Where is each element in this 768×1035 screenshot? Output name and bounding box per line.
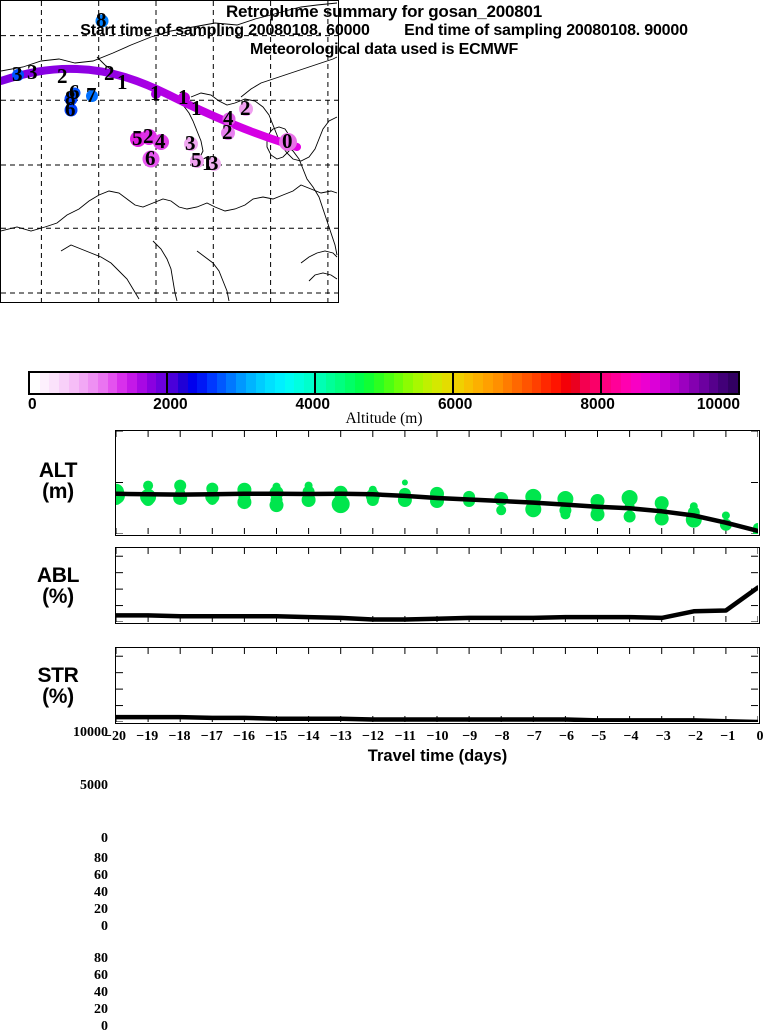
colorbar-segment bbox=[108, 373, 118, 393]
colorbar-segment bbox=[88, 373, 98, 393]
colorbar-segment bbox=[217, 373, 227, 393]
end-time-label: End time of sampling 20080108. 90000 bbox=[404, 22, 688, 39]
colorbar-segment bbox=[571, 373, 581, 393]
colorbar-segment bbox=[522, 373, 532, 393]
map-marker-label: 2 bbox=[240, 98, 251, 119]
colorbar-segment bbox=[670, 373, 680, 393]
y-tick-label: 80 bbox=[48, 851, 108, 867]
colorbar-segment bbox=[454, 373, 464, 393]
colorbar-segment bbox=[718, 373, 728, 393]
colorbar-segment bbox=[275, 373, 285, 393]
colorbar-title: Altitude (m) bbox=[0, 410, 768, 428]
colorbar-segment bbox=[728, 373, 738, 393]
colorbar-segment bbox=[611, 373, 621, 393]
y-tick-label: 40 bbox=[48, 885, 108, 901]
map-marker-label: 1 bbox=[191, 98, 202, 119]
colorbar-segment bbox=[384, 373, 394, 393]
map-marker-label: 1 bbox=[178, 87, 189, 108]
x-tick-label: −19 bbox=[130, 729, 164, 745]
colorbar-segment bbox=[335, 373, 345, 393]
colorbar-segment bbox=[561, 373, 571, 393]
colorbar-segment bbox=[394, 373, 404, 393]
colorbar-segment bbox=[473, 373, 483, 393]
x-tick-label: −5 bbox=[582, 729, 616, 745]
y-tick-label: 40 bbox=[48, 985, 108, 1001]
str-plot[interactable] bbox=[115, 647, 760, 724]
colorbar-segment bbox=[188, 373, 198, 393]
x-tick-label: −8 bbox=[485, 729, 519, 745]
start-time-label: Start time of sampling 20080108. 60000 bbox=[80, 22, 369, 39]
colorbar-segment bbox=[326, 373, 336, 393]
colorbar-segment bbox=[246, 373, 256, 393]
x-tick-label: −1 bbox=[711, 729, 745, 745]
map-marker-label: 6 bbox=[65, 99, 76, 120]
colorbar-segment bbox=[709, 373, 719, 393]
colorbar-segment bbox=[304, 373, 314, 393]
map-marker-label: 1 bbox=[150, 83, 161, 104]
x-tick-label: −11 bbox=[388, 729, 422, 745]
y-tick-label: 0 bbox=[48, 919, 108, 935]
alt-label-line2: (m) bbox=[8, 481, 108, 502]
abl-label-line2: (%) bbox=[8, 586, 108, 607]
x-tick-label: 0 bbox=[743, 729, 768, 745]
map-marker-label: 7 bbox=[86, 85, 97, 106]
alt-plot[interactable] bbox=[115, 430, 760, 536]
map-marker-label: 3 bbox=[208, 153, 219, 174]
colorbar-segment bbox=[236, 373, 246, 393]
colorbar-segment bbox=[178, 373, 188, 393]
colorbar-segment bbox=[265, 373, 275, 393]
colorbar-segment bbox=[345, 373, 355, 393]
colorbar-segment bbox=[403, 373, 413, 393]
x-tick-label: −15 bbox=[259, 729, 293, 745]
x-tick-label: −6 bbox=[550, 729, 584, 745]
colorbar-segment bbox=[483, 373, 493, 393]
colorbar-segment bbox=[503, 373, 513, 393]
x-axis-title: Travel time (days) bbox=[115, 747, 760, 766]
colorbar-segment bbox=[660, 373, 670, 393]
colorbar-segment bbox=[464, 373, 474, 393]
colorbar-segment bbox=[423, 373, 433, 393]
colorbar-segment bbox=[168, 373, 178, 393]
map-marker-label: 2 bbox=[222, 122, 233, 143]
map-marker-label: 2 bbox=[104, 63, 115, 84]
map-marker-label: 2 bbox=[143, 126, 154, 147]
colorbar-segment bbox=[699, 373, 709, 393]
map-marker-label: 1 bbox=[117, 72, 128, 93]
alt-label-line1: ALT bbox=[8, 460, 108, 481]
str-plot-svg bbox=[116, 648, 758, 722]
x-tick-label: −14 bbox=[292, 729, 326, 745]
colorbar-segment bbox=[442, 373, 452, 393]
colorbar-segment bbox=[541, 373, 551, 393]
colorbar-segment bbox=[621, 373, 631, 393]
str-label-line2: (%) bbox=[8, 686, 108, 707]
title-block: Retroplume summary for gosan_200801 Star… bbox=[0, 2, 768, 59]
abl-plot[interactable] bbox=[115, 547, 760, 624]
x-tick-label: −2 bbox=[679, 729, 713, 745]
x-tick-label: −12 bbox=[356, 729, 390, 745]
y-tick-label: 20 bbox=[48, 902, 108, 918]
alt-axis-label: ALT (m) bbox=[8, 460, 108, 502]
y-tick-label: 0 bbox=[48, 1019, 108, 1035]
x-tick-label: −3 bbox=[646, 729, 680, 745]
x-tick-label: −9 bbox=[453, 729, 487, 745]
y-tick-label: 20 bbox=[48, 1002, 108, 1018]
x-tick-label: −20 bbox=[98, 729, 132, 745]
met-data-label: Meteorological data used is ECMWF bbox=[0, 40, 768, 59]
colorbar-segment bbox=[197, 373, 207, 393]
x-tick-label: −7 bbox=[517, 729, 551, 745]
colorbar-segment bbox=[256, 373, 266, 393]
map-marker-label: 4 bbox=[155, 131, 166, 152]
x-tick-label: −4 bbox=[614, 729, 648, 745]
colorbar-segment bbox=[602, 373, 612, 393]
colorbar-segment bbox=[98, 373, 108, 393]
colorbar-segment bbox=[590, 373, 600, 393]
map-marker-label: 2 bbox=[57, 66, 68, 87]
colorbar-segment bbox=[551, 373, 561, 393]
str-axis-label: STR (%) bbox=[8, 665, 108, 707]
colorbar-segment bbox=[69, 373, 79, 393]
page-title: Retroplume summary for gosan_200801 bbox=[0, 2, 768, 21]
abl-axis-label: ABL (%) bbox=[8, 565, 108, 607]
colorbar-segment bbox=[580, 373, 590, 393]
colorbar-segment bbox=[117, 373, 127, 393]
map-marker-label: 5 bbox=[191, 150, 202, 171]
str-label-line1: STR bbox=[8, 665, 108, 686]
x-tick-label: −13 bbox=[324, 729, 358, 745]
colorbar-segment bbox=[364, 373, 374, 393]
colorbar-segment bbox=[40, 373, 50, 393]
colorbar-segment bbox=[413, 373, 423, 393]
colorbar-segment bbox=[374, 373, 384, 393]
map-marker-label: 3 bbox=[12, 64, 23, 85]
colorbar-segment bbox=[147, 373, 157, 393]
map-marker-label: 0 bbox=[282, 131, 293, 152]
map-marker-label: 8 bbox=[96, 10, 107, 31]
colorbar-segment bbox=[432, 373, 442, 393]
y-tick-label: 80 bbox=[48, 951, 108, 967]
colorbar-segment bbox=[493, 373, 503, 393]
map-marker-label: 3 bbox=[27, 62, 38, 83]
colorbar-segment bbox=[679, 373, 689, 393]
colorbar-segment bbox=[79, 373, 89, 393]
y-tick-label: 0 bbox=[48, 831, 108, 847]
colorbar-segment bbox=[285, 373, 295, 393]
sampling-time-line: Start time of sampling 20080108. 60000 E… bbox=[0, 21, 768, 40]
colorbar-segment bbox=[137, 373, 147, 393]
colorbar-segment bbox=[512, 373, 522, 393]
y-tick-label: 60 bbox=[48, 868, 108, 884]
colorbar-segment bbox=[355, 373, 365, 393]
x-tick-label: −17 bbox=[195, 729, 229, 745]
colorbar-segment bbox=[532, 373, 542, 393]
abl-label-line1: ABL bbox=[8, 565, 108, 586]
colorbar-segment bbox=[59, 373, 69, 393]
colorbar-segment bbox=[316, 373, 326, 393]
colorbar-segment bbox=[30, 373, 40, 393]
abl-plot-svg bbox=[116, 548, 758, 622]
y-tick-label: 60 bbox=[48, 968, 108, 984]
colorbar-segment bbox=[641, 373, 651, 393]
altitude-colorbar[interactable] bbox=[28, 371, 740, 395]
colorbar-segment bbox=[207, 373, 217, 393]
x-tick-label: −16 bbox=[227, 729, 261, 745]
x-tick-label: −18 bbox=[163, 729, 197, 745]
colorbar-segment bbox=[49, 373, 59, 393]
colorbar-segment bbox=[689, 373, 699, 393]
colorbar-segment bbox=[127, 373, 137, 393]
colorbar-segment bbox=[294, 373, 304, 393]
map-marker-label: 5 bbox=[132, 128, 143, 149]
colorbar-segment bbox=[631, 373, 641, 393]
colorbar-segment bbox=[156, 373, 166, 393]
colorbar-segment bbox=[650, 373, 660, 393]
x-tick-label-layer: −20−19−18−17−16−15−14−13−12−11−10−9−8−7−… bbox=[0, 729, 768, 747]
map-marker-label: 6 bbox=[145, 148, 156, 169]
alt-plot-svg bbox=[116, 431, 758, 534]
y-tick-label: 5000 bbox=[48, 778, 108, 794]
colorbar-segment bbox=[226, 373, 236, 393]
x-tick-label: −10 bbox=[421, 729, 455, 745]
